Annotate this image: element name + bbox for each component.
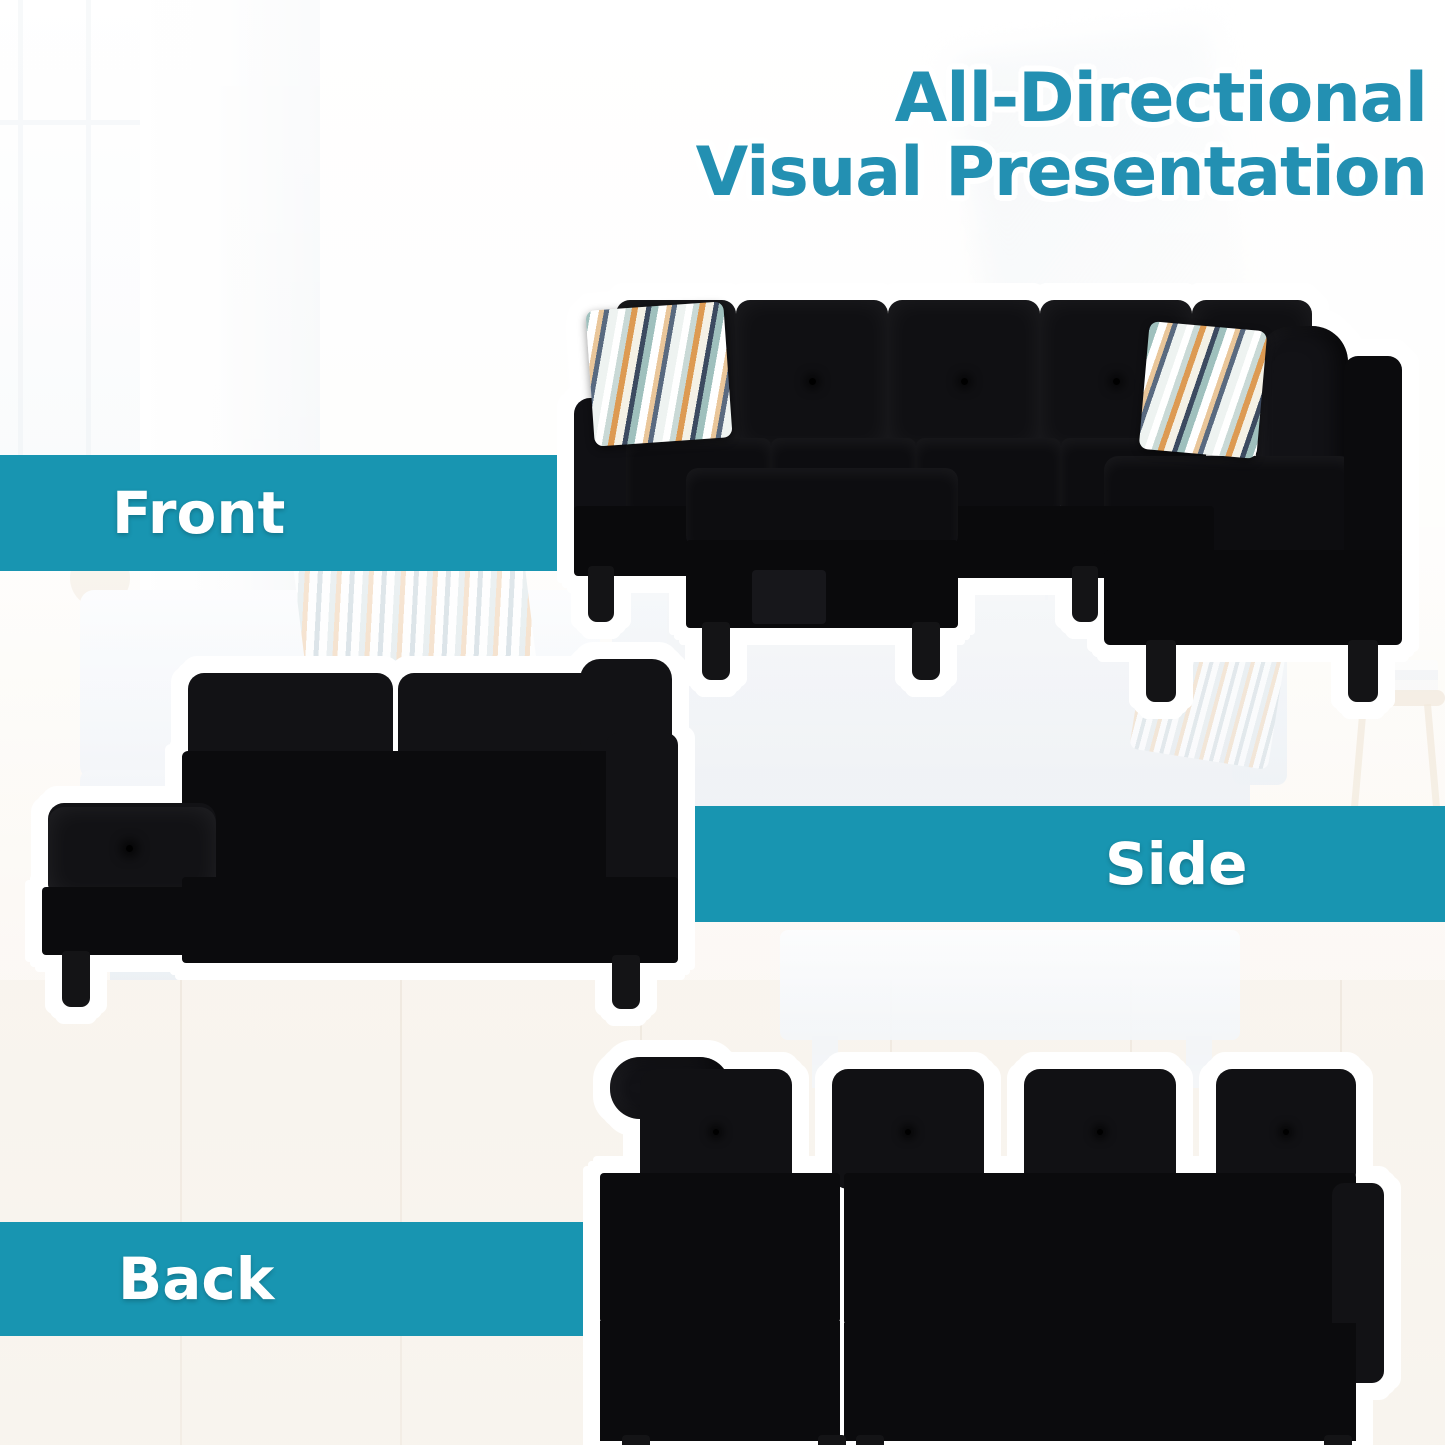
banner-side: Side: [650, 806, 1445, 922]
product-marketing-image: All-Directional Visual Presentation Fron…: [0, 0, 1445, 1445]
accent-pillow-right: [1139, 321, 1268, 459]
banner-back: Back: [0, 1222, 590, 1336]
product-view-side: [40, 655, 680, 1005]
headline-line-2: Visual Presentation: [696, 136, 1427, 210]
product-view-back: [600, 1055, 1400, 1385]
headline: All-Directional Visual Presentation: [696, 62, 1427, 210]
accent-pillow-left: [585, 301, 732, 446]
product-view-front: [556, 278, 1416, 678]
banner-side-label: Side: [1105, 835, 1248, 893]
banner-back-label: Back: [118, 1250, 274, 1308]
banner-front-label: Front: [112, 484, 285, 542]
banner-front: Front: [0, 455, 558, 571]
headline-line-1: All-Directional: [696, 62, 1427, 136]
